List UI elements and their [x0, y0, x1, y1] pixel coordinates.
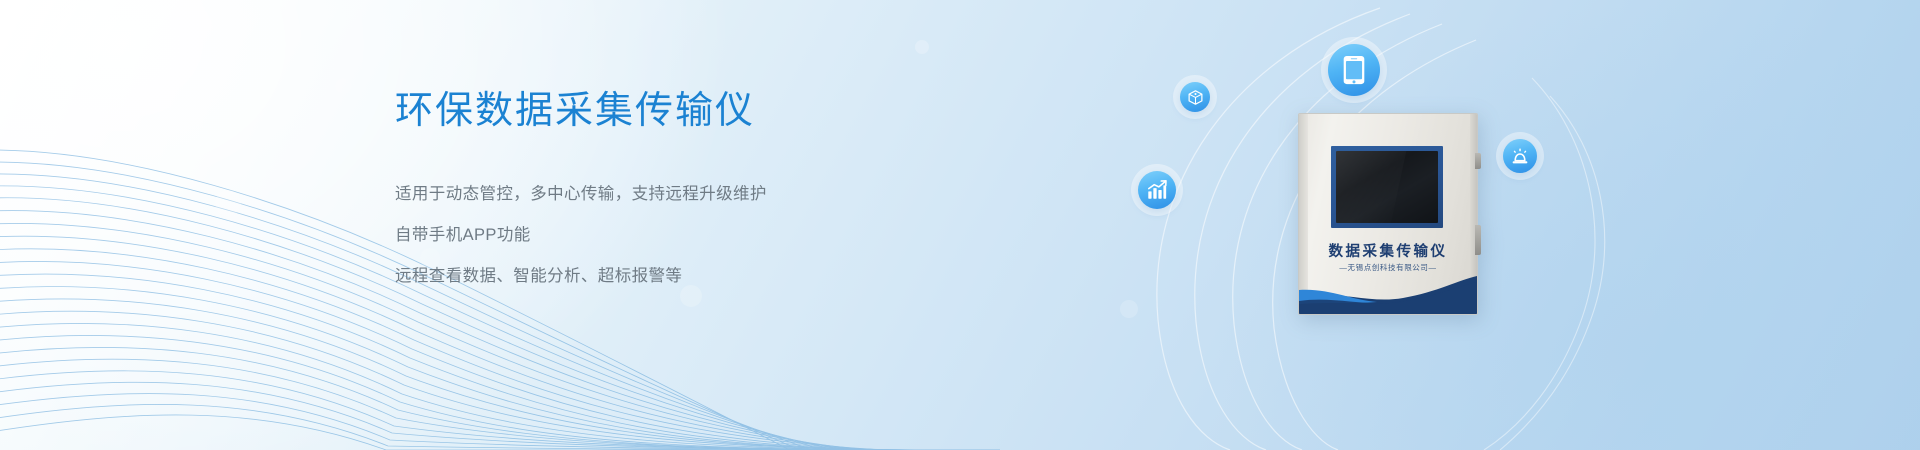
bokeh-dot — [335, 78, 351, 94]
device-side-port — [1475, 153, 1481, 169]
hero-copy: 环保数据采集传输仪 适用于动态管控，多中心传输，支持远程升级维护 自带手机APP… — [395, 88, 955, 291]
feature-item: 适用于动态管控，多中心传输，支持远程升级维护 — [395, 180, 955, 209]
data-logger-device: 数据采集传输仪 —无锡点创科技有限公司— — [1298, 113, 1476, 313]
product-hero-banner: 环保数据采集传输仪 适用于动态管控，多中心传输，支持远程升级维护 自带手机APP… — [0, 0, 1920, 450]
cube-icon — [1180, 82, 1210, 112]
alarm-icon — [1503, 139, 1537, 173]
bokeh-dot — [915, 40, 929, 54]
chart-icon — [1138, 171, 1176, 209]
device-brand-title: 数据采集传输仪 — [1299, 240, 1477, 261]
bokeh-dot — [215, 190, 241, 216]
page-title: 环保数据采集传输仪 — [395, 88, 955, 136]
product-visual: 数据采集传输仪 —无锡点创科技有限公司— — [1080, 0, 1780, 450]
device-screen — [1336, 151, 1438, 223]
device-bottom-band — [1299, 274, 1477, 314]
device-screen-bezel — [1331, 146, 1443, 228]
device-side-port — [1475, 225, 1481, 255]
feature-item: 自带手机APP功能 — [395, 221, 955, 250]
feature-item: 远程查看数据、智能分析、超标报警等 — [395, 262, 955, 291]
device-company-name: —无锡点创科技有限公司— — [1299, 262, 1477, 273]
feature-list: 适用于动态管控，多中心传输，支持远程升级维护 自带手机APP功能 远程查看数据、… — [395, 180, 955, 291]
device-body: 数据采集传输仪 —无锡点创科技有限公司— — [1298, 113, 1478, 315]
phone-icon — [1328, 44, 1380, 96]
